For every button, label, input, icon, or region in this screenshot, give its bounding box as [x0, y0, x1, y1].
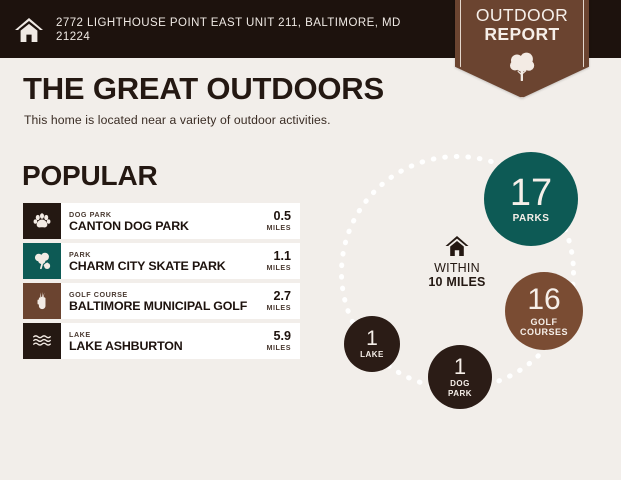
header-address-block: 2772 LIGHTHOUSE POINT EAST UNIT 211, BAL… [14, 8, 444, 52]
golf-bag-icon [31, 290, 53, 312]
list-item-text: PARK CHARM CITY SKATE PARK [61, 243, 267, 279]
list-item-name: LAKE ASHBURTON [69, 339, 267, 353]
list-item-distance: 0.5 MILES [267, 203, 300, 239]
list-item-category: LAKE [69, 330, 267, 339]
list-item-name: BALTIMORE MUNICIPAL GOLF [69, 299, 267, 313]
home-icon [14, 16, 44, 44]
list-item-tile [23, 283, 61, 319]
list-item-name: CHARM CITY SKATE PARK [69, 259, 267, 273]
list-item-category: DOG PARK [69, 210, 267, 219]
list-item-tile [23, 203, 61, 239]
node-count: 1 [454, 356, 466, 378]
outdoor-report-page: 2772 LIGHTHOUSE POINT EAST UNIT 211, BAL… [0, 0, 621, 480]
home-icon [445, 235, 469, 257]
list-item[interactable]: DOG PARK CANTON DOG PARK 0.5 MILES [23, 203, 300, 239]
tree-icon [507, 50, 537, 82]
list-item-tile [23, 323, 61, 359]
distance-unit: MILES [267, 343, 291, 352]
node-label: PARKS [513, 214, 550, 224]
proximity-diagram: WITHIN 10 MILES 17 PARKS 16 GOLF COURSES… [325, 140, 621, 425]
list-item[interactable]: PARK CHARM CITY SKATE PARK 1.1 MILES [23, 243, 300, 279]
diagram-node-parks[interactable]: 17 PARKS [484, 152, 578, 246]
outdoor-report-badge: OUTDOOR REPORT [455, 0, 589, 98]
popular-list: DOG PARK CANTON DOG PARK 0.5 MILES [23, 203, 300, 363]
list-item[interactable]: GOLF COURSE BALTIMORE MUNICIPAL GOLF 2.7… [23, 283, 300, 319]
list-item-text: DOG PARK CANTON DOG PARK [61, 203, 267, 239]
diagram-center: WITHIN 10 MILES [407, 235, 507, 289]
within-label: WITHIN [407, 261, 507, 275]
node-label: LAKE [360, 350, 384, 360]
distance-unit: MILES [267, 263, 291, 272]
list-item-distance: 2.7 MILES [267, 283, 300, 319]
paw-icon [31, 210, 53, 232]
badge-line-1: OUTDOOR [455, 6, 589, 25]
popular-heading: POPULAR [22, 160, 158, 192]
list-item[interactable]: LAKE LAKE ASHBURTON 5.9 MILES [23, 323, 300, 359]
badge-text: OUTDOOR REPORT [455, 6, 589, 44]
list-item-text: GOLF COURSE BALTIMORE MUNICIPAL GOLF [61, 283, 267, 319]
footer: ListReports bright MLS DISCLAIMER: The i… [0, 430, 621, 480]
page-title: THE GREAT OUTDOORS [23, 72, 384, 106]
distance-unit: MILES [267, 223, 291, 232]
tree-icon [31, 250, 53, 272]
distance-unit: MILES [267, 303, 291, 312]
list-item-tile [23, 243, 61, 279]
diagram-node-dog-park[interactable]: 1 DOG PARK [428, 345, 492, 409]
badge-line-2: REPORT [455, 25, 589, 44]
within-distance: 10 MILES [407, 275, 507, 289]
list-item-distance: 1.1 MILES [267, 243, 300, 279]
diagram-node-golf-courses[interactable]: 16 GOLF COURSES [505, 272, 583, 350]
node-count: 17 [510, 174, 552, 212]
node-count: 16 [527, 285, 560, 315]
distance-value: 0.5 [267, 210, 291, 223]
distance-value: 1.1 [267, 250, 291, 263]
node-label: DOG PARK [439, 379, 481, 399]
node-label: GOLF COURSES [513, 317, 575, 337]
list-item-distance: 5.9 MILES [267, 323, 300, 359]
list-item-category: PARK [69, 250, 267, 259]
distance-value: 5.9 [267, 330, 291, 343]
diagram-node-lake[interactable]: 1 LAKE [344, 316, 400, 372]
distance-value: 2.7 [267, 290, 291, 303]
list-item-text: LAKE LAKE ASHBURTON [61, 323, 267, 359]
property-address: 2772 LIGHTHOUSE POINT EAST UNIT 211, BAL… [56, 16, 436, 44]
waves-icon [31, 330, 53, 352]
list-item-category: GOLF COURSE [69, 290, 267, 299]
page-subtitle: This home is located near a variety of o… [24, 113, 331, 127]
node-count: 1 [366, 328, 378, 349]
list-item-name: CANTON DOG PARK [69, 219, 267, 233]
